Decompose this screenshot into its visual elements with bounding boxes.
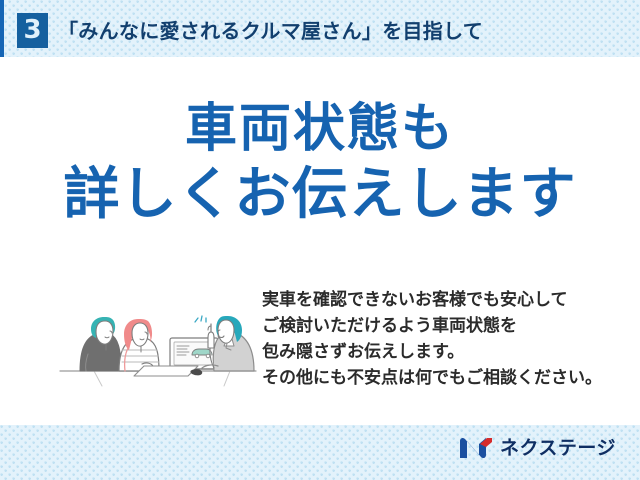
body-copy-line-1: 実車を確認できないお客様でも安心して <box>262 287 622 313</box>
footer-band: ネクステージ <box>0 425 640 480</box>
sparkle-icon <box>195 316 206 322</box>
slide-root: 3 「みんなに愛されるクルマ屋さん」を目指して 車両状態も 詳しくお伝えします <box>0 0 640 480</box>
header-band: 3 「みんなに愛されるクルマ屋さん」を目指して <box>0 0 640 57</box>
body-copy-line-2: ご検討いただけるよう車両状態を <box>262 313 622 339</box>
figure-customer-male <box>80 317 121 371</box>
body-copy-line-4: その他にも不安点は何でもご相談ください。 <box>262 365 622 391</box>
consultation-illustration-svg <box>58 276 258 388</box>
figure-customer-female <box>119 319 159 371</box>
consultation-illustration <box>58 276 258 388</box>
body-copy-line-3: 包み隠さずお伝えします。 <box>262 339 622 365</box>
table-documents <box>134 366 202 376</box>
brand-name: ネクステージ <box>500 439 616 458</box>
header-accent-rule <box>0 0 4 57</box>
header-title: 「みんなに愛されるクルマ屋さん」を目指して <box>58 14 483 48</box>
headline-line-2: 詳しくお伝えします <box>0 164 640 227</box>
body-copy: 実車を確認できないお客様でも安心して ご検討いただけるよう車両状態を 包み隠さず… <box>262 287 622 391</box>
page-headline: 車両状態も 詳しくお伝えします <box>0 100 640 227</box>
step-number-badge: 3 <box>17 13 48 48</box>
headline-line-1: 車両状態も <box>0 100 640 158</box>
brand-lockup: ネクステージ <box>459 436 616 460</box>
nextstage-logo-icon <box>459 436 493 460</box>
